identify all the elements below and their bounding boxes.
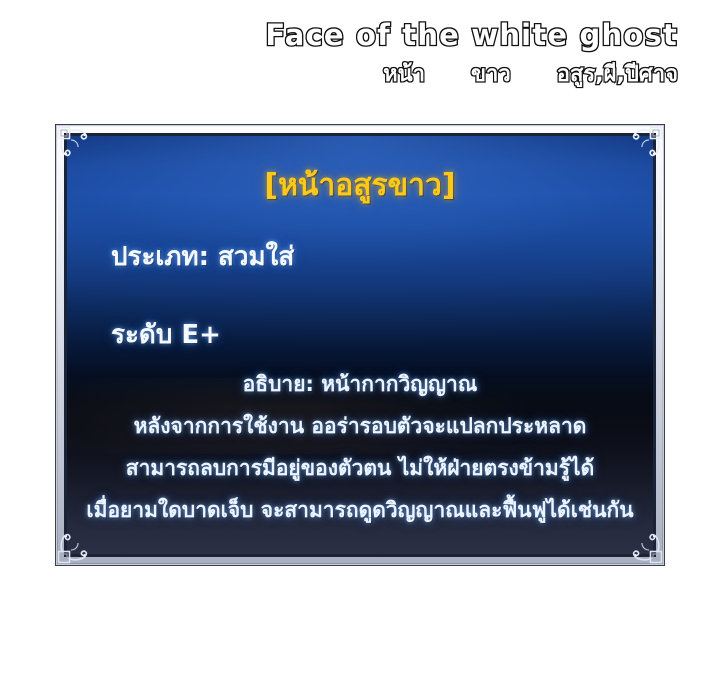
item-description-line: หลังจากการใช้งาน ออร่ารอบตัวจะแปลกประหลา…	[67, 410, 653, 443]
panel-content: [หน้าอสูรขาว] ประเภท: สวมใส่ ระดับ E+ อธ…	[67, 136, 653, 554]
item-grade-line: ระดับ E+	[111, 314, 221, 355]
page-header: Face of the white ghost หน้า ขาว อสูร,ผี…	[0, 0, 720, 110]
header-subtitle-word-2: ขาว	[471, 56, 511, 91]
item-name-title: [หน้าอสูรขาว]	[67, 162, 653, 209]
header-subtitle-thai: หน้า ขาว อสูร,ผี,ปีศาจ	[383, 56, 678, 91]
item-type-line: ประเภท: สวมใส่	[111, 236, 294, 277]
item-description-line: สามารถลบการมีอยู่ของตัวตน ไม่ให้ฝ่ายตรงข…	[67, 452, 653, 485]
header-subtitle-word-1: หน้า	[383, 56, 425, 91]
item-description-line: เมื่อยามใดบาดเจ็บ จะสามารถดูดวิญญาณและฟื…	[67, 494, 653, 527]
item-info-panel: [หน้าอสูรขาว] ประเภท: สวมใส่ ระดับ E+ อธ…	[55, 124, 665, 566]
header-subtitle-word-3: อสูร,ผี,ปีศาจ	[557, 56, 678, 91]
header-title-english: Face of the white ghost	[265, 18, 678, 52]
item-description-line: อธิบาย: หน้ากากวิญญาณ	[67, 368, 653, 401]
